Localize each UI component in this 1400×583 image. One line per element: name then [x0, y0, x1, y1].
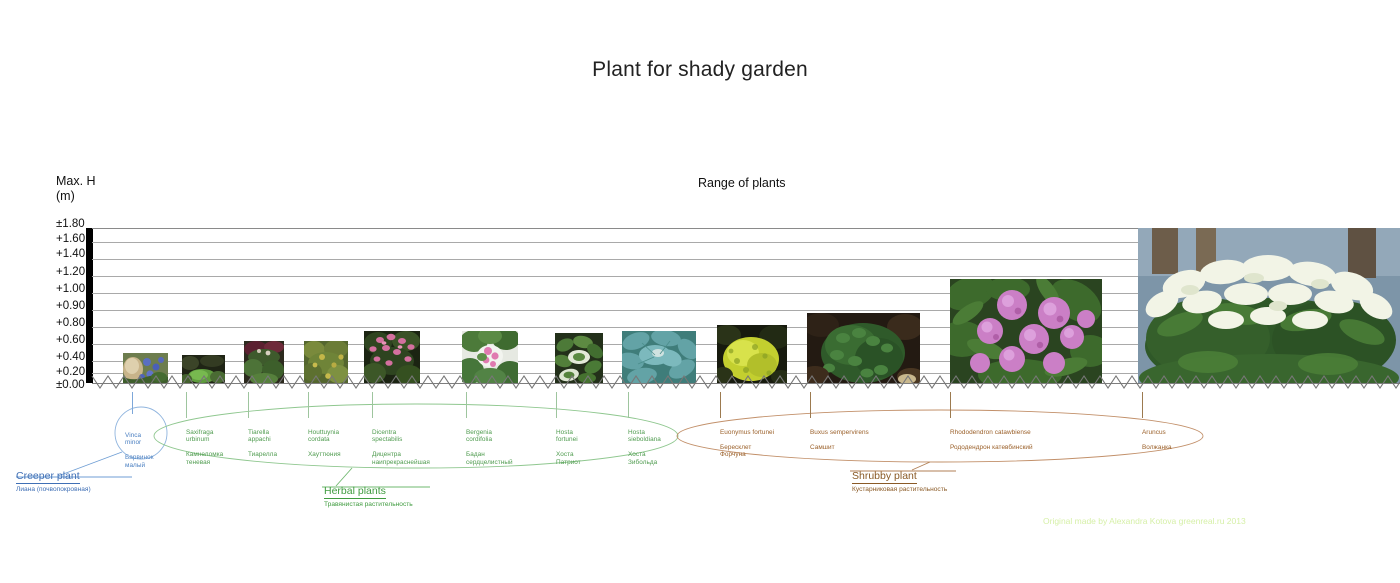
plant-russian-buxus: Самшит	[810, 444, 835, 451]
plant-photo-rhododendron-catawbiense[interactable]	[950, 279, 1102, 383]
plant-label-rhododendron: Rhododendron catawbiense Рододендрон кат…	[950, 421, 1080, 451]
axis-caption-line2: (m)	[56, 189, 96, 204]
plant-latin-houttuynia: Houttuynia cordata	[308, 429, 339, 444]
axis-tick-0-40: +0.40	[56, 351, 85, 363]
leader-hosta-sieboldiana	[628, 392, 629, 418]
leader-dicentra	[372, 392, 373, 418]
plant-russian-dicentra: Дицентра наипрекраснейшая	[372, 451, 430, 466]
plant-label-hosta-fortunei: Hosta fortunei Хоста Патриот	[556, 421, 612, 467]
plant-photo-aruncus[interactable]	[1138, 228, 1400, 383]
leader-houttuynia	[308, 392, 309, 418]
legend-creeper-en: Creeper plant	[16, 470, 80, 484]
legend-herbal-plants[interactable]: Herbal plants Травянистая растительность	[324, 481, 413, 508]
plant-russian-vinca-minor: Барвинок малый	[125, 454, 154, 469]
legend-shrubby-en: Shrubby plant	[852, 470, 917, 484]
plant-russian-houttuynia: Хауттюния	[308, 451, 341, 458]
plant-latin-hosta-fortunei: Hosta fortunei	[556, 429, 578, 444]
plant-latin-buxus: Buxus sempervirens	[810, 429, 869, 436]
plant-russian-tiarella: Тиарелла	[248, 451, 277, 458]
legend-herbal-en: Herbal plants	[324, 485, 386, 499]
plant-label-bergenia: Bergenia cordifolia Бадан сердцелистный	[466, 421, 548, 467]
plant-russian-euonymus: Бересклет Форчуна	[720, 444, 751, 459]
plant-label-saxifraga: Saxifraga urbinum Камнеломка теневая	[186, 421, 244, 467]
axis-caption: Max. H (m)	[56, 174, 96, 204]
leader-aruncus	[1142, 392, 1143, 418]
axis-tick-1-00: +1.00	[56, 283, 85, 295]
footer-credit: Original made by Alexandra Kotova greenr…	[1043, 516, 1246, 526]
plant-image-rhododendron	[950, 279, 1102, 383]
plant-russian-aruncus: Волжанка	[1142, 444, 1172, 451]
plant-latin-saxifraga: Saxifraga urbinum	[186, 429, 213, 444]
axis-tick-1-40: +1.40	[56, 248, 85, 260]
plant-latin-dicentra: Dicentra spectabilis	[372, 429, 402, 444]
plant-latin-bergenia: Bergenia cordifolia	[466, 429, 492, 444]
range-of-plants-caption: Range of plants	[698, 176, 786, 190]
plant-label-euonymus: Euonymus fortunei Бересклет Форчуна	[720, 421, 810, 459]
plant-russian-saxifraga: Камнеломка теневая	[186, 451, 223, 466]
leader-rhododendron	[950, 392, 951, 418]
plant-latin-aruncus: Aruncus	[1142, 429, 1166, 436]
plant-latin-hosta-sieboldiana: Hosta sieboldiana	[628, 429, 661, 444]
legend-herbal-ru: Травянистая растительность	[324, 501, 413, 508]
plant-photo-buxus-sempervirens[interactable]	[807, 313, 920, 383]
plant-label-aruncus: Aruncus Волжанка	[1142, 421, 1212, 451]
leader-tiarella	[248, 392, 249, 418]
plant-label-dicentra: Dicentra spectabilis Дицентра наипрекрас…	[372, 421, 458, 467]
plant-label-vinca-minor: Vinca minor Барвинок малый	[125, 424, 167, 470]
plant-image-buxus	[807, 313, 920, 383]
axis-tick-0-20: +0.20	[56, 366, 85, 378]
leader-hosta-fortunei	[556, 392, 557, 418]
plant-label-hosta-sieboldiana: Hosta sieboldiana Хоста Зибольда	[628, 421, 688, 467]
axis-tick-1-60: +1.60	[56, 233, 85, 245]
page-title: Plant for shady garden	[0, 58, 1400, 82]
axis-tick-0-80: +0.80	[56, 317, 85, 329]
plant-russian-hosta-sieboldiana: Хоста Зибольда	[628, 451, 657, 466]
legend-creeper-ru: Лиана (почвопокровная)	[16, 486, 91, 493]
axis-caption-line1: Max. H	[56, 174, 96, 189]
diagram-canvas: Plant for shady garden Max. H (m) Range …	[0, 0, 1400, 583]
plant-latin-vinca-minor: Vinca minor	[125, 432, 141, 447]
plant-latin-rhododendron: Rhododendron catawbiense	[950, 429, 1031, 436]
legend-shrubby-ru: Кустарниковая растительность	[852, 486, 947, 493]
chart-plot-area	[92, 228, 1400, 383]
plant-image-aruncus	[1138, 228, 1400, 383]
legend-creeper-plant[interactable]: Creeper plant Лиана (почвопокровная)	[16, 466, 91, 493]
leader-buxus	[810, 392, 811, 418]
axis-tick-0-60: +0.60	[56, 334, 85, 346]
plant-label-houttuynia: Houttuynia cordata Хауттюния	[308, 421, 368, 459]
leader-vinca-minor	[132, 392, 133, 414]
leader-euonymus	[720, 392, 721, 418]
plant-latin-euonymus: Euonymus fortunei	[720, 429, 774, 436]
plant-label-buxus: Buxus sempervirens Самшит	[810, 421, 910, 451]
plant-russian-bergenia: Бадан сердцелистный	[466, 451, 513, 466]
plant-latin-tiarella: Tiarella appachi	[248, 429, 271, 444]
legend-shrubby-plant[interactable]: Shrubby plant Кустарниковая растительнос…	[852, 466, 947, 493]
axis-tick-0-90: +0.90	[56, 300, 85, 312]
plant-russian-hosta-fortunei: Хоста Патриот	[556, 451, 581, 466]
leader-saxifraga	[186, 392, 187, 418]
leader-bergenia	[466, 392, 467, 418]
plant-label-tiarella: Tiarella appachi Тиарелла	[248, 421, 304, 459]
axis-tick-1-20: +1.20	[56, 266, 85, 278]
axis-tick-1-80: ±1.80	[56, 218, 85, 230]
plant-russian-rhododendron: Рододендрон катевбинский	[950, 444, 1033, 451]
